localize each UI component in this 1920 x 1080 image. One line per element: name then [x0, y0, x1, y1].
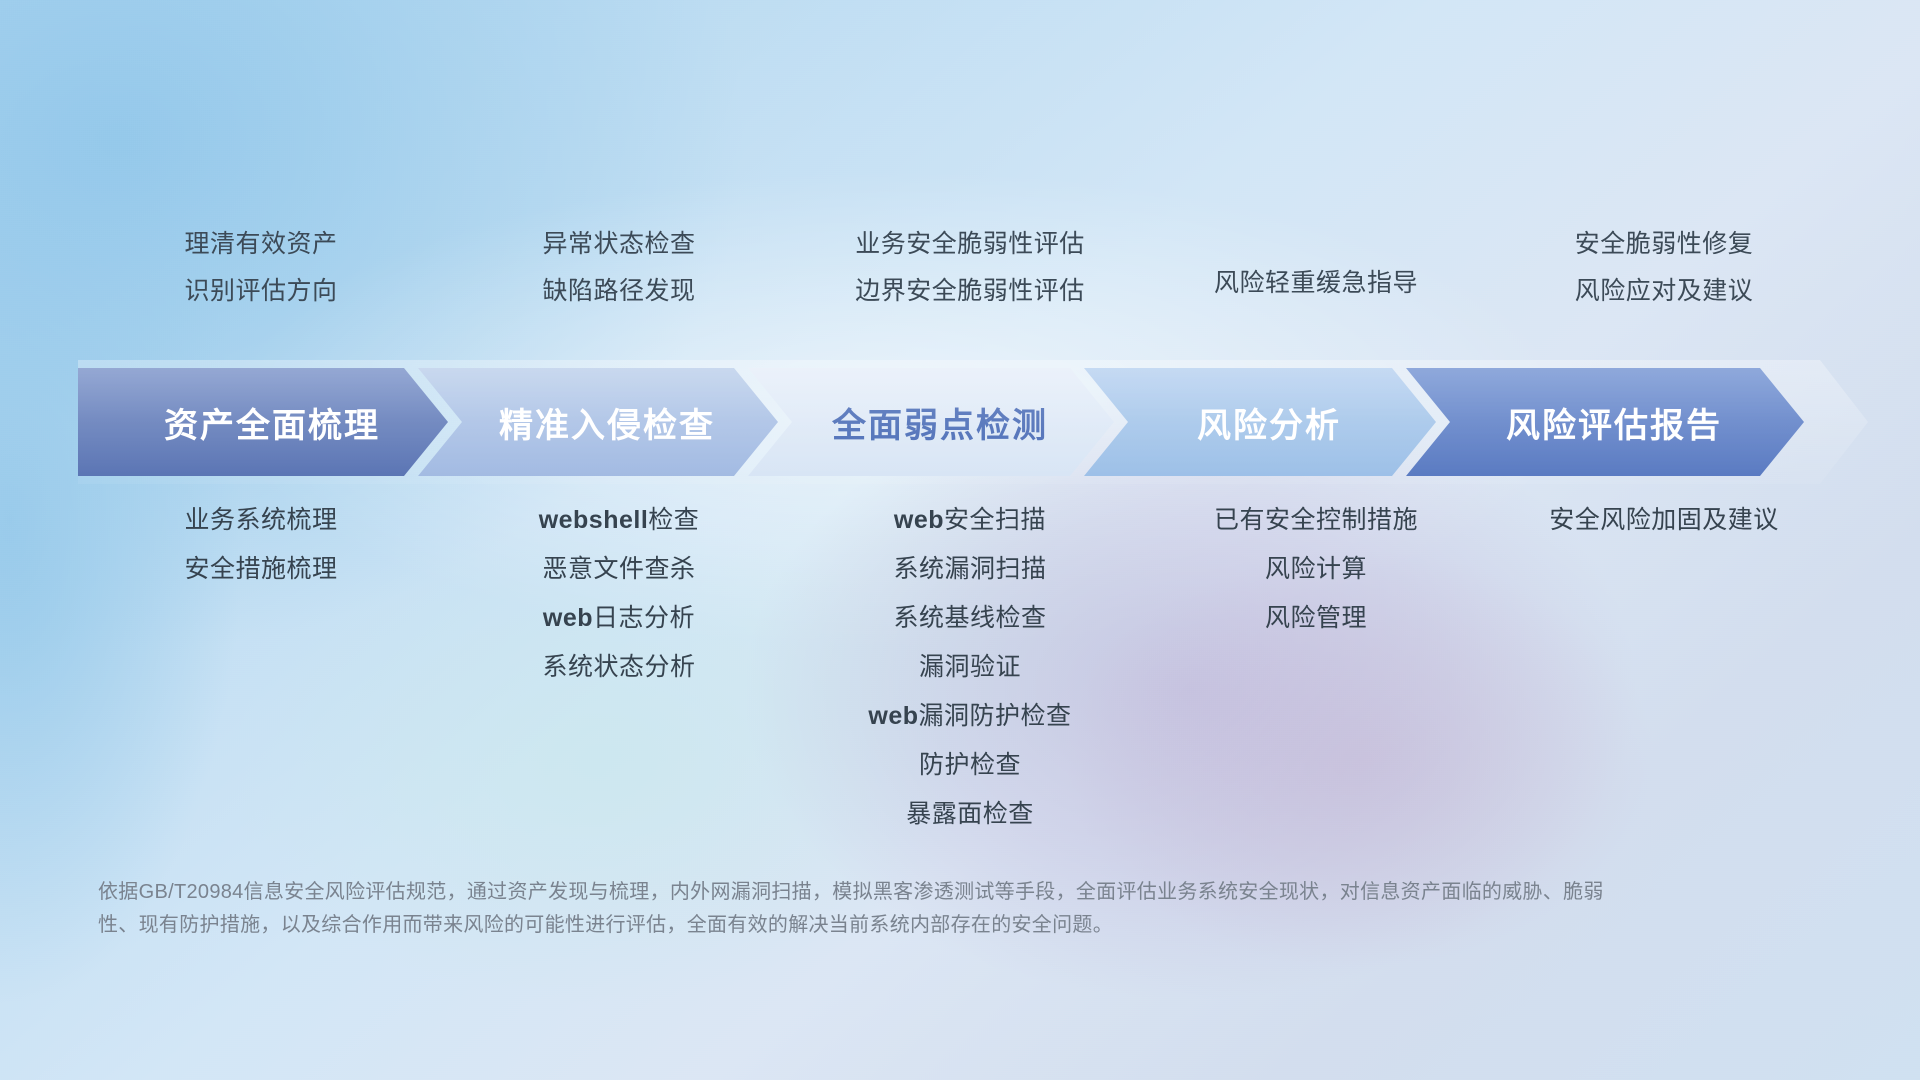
detail-item: 系统状态分析 — [542, 655, 695, 680]
pre-column-risk-analysis: 风险轻重缓急指导 — [1146, 232, 1486, 326]
detail-item: web漏洞防护检查 — [868, 704, 1071, 729]
detail-item-text: 检查 — [648, 506, 699, 534]
pre-item: 风险应对及建议 — [1575, 279, 1754, 304]
detail-item: 已有安全控制措施 — [1214, 508, 1418, 533]
detail-item-prefix: web — [868, 702, 918, 730]
detail-item: 系统漏洞扫描 — [893, 557, 1046, 582]
pre-column-risk-report: 安全脆弱性修复风险应对及建议 — [1486, 232, 1842, 326]
slide-content: 理清有效资产识别评估方向异常状态检查缺陷路径发现业务安全脆弱性评估边界安全脆弱性… — [0, 0, 1920, 1080]
detail-item-text: 日志分析 — [593, 604, 695, 632]
detail-item: 风险计算 — [1265, 557, 1367, 582]
detail-item-prefix: webshell — [539, 506, 649, 534]
pre-column-weakness-detection: 业务安全脆弱性评估边界安全脆弱性评估 — [794, 232, 1146, 326]
detail-column-asset-inventory: 业务系统梳理安全措施梳理 — [78, 508, 444, 851]
detail-item: 恶意文件查杀 — [542, 557, 695, 582]
detail-item: 业务系统梳理 — [184, 508, 337, 533]
detail-column-intrusion-check: webshell检查恶意文件查杀web日志分析系统状态分析 — [444, 508, 794, 851]
detail-item-prefix: web — [894, 506, 944, 534]
pre-item: 安全脆弱性修复 — [1575, 232, 1754, 257]
slide-background: 理清有效资产识别评估方向异常状态检查缺陷路径发现业务安全脆弱性评估边界安全脆弱性… — [0, 0, 1920, 1080]
detail-column-weakness-detection: web安全扫描系统漏洞扫描系统基线检查漏洞验证web漏洞防护检查防护检查暴露面检… — [794, 508, 1146, 851]
pre-item: 识别评估方向 — [184, 279, 337, 304]
pre-item: 风险轻重缓急指导 — [1214, 271, 1418, 296]
detail-item: web日志分析 — [543, 606, 695, 631]
detail-item-text: 漏洞防护检查 — [919, 702, 1072, 730]
chevron-band-glow — [78, 360, 1868, 484]
detail-item-text: 安全扫描 — [944, 506, 1046, 534]
detail-item: web安全扫描 — [894, 508, 1046, 533]
pre-item: 理清有效资产 — [184, 232, 337, 257]
detail-item: 漏洞验证 — [919, 655, 1021, 680]
detail-item: 防护检查 — [919, 753, 1021, 778]
pre-column-intrusion-check: 异常状态检查缺陷路径发现 — [444, 232, 794, 326]
pre-item: 异常状态检查 — [542, 232, 695, 257]
detail-item: 风险管理 — [1265, 606, 1367, 631]
detail-item: 安全风险加固及建议 — [1549, 508, 1779, 533]
pre-item: 缺陷路径发现 — [542, 279, 695, 304]
detail-column-risk-report: 安全风险加固及建议 — [1486, 508, 1842, 851]
detail-item-prefix: web — [543, 604, 593, 632]
stage-detail-columns: 业务系统梳理安全措施梳理webshell检查恶意文件查杀web日志分析系统状态分… — [78, 508, 1842, 851]
detail-column-risk-analysis: 已有安全控制措施风险计算风险管理 — [1146, 508, 1486, 851]
detail-item: 暴露面检查 — [906, 802, 1034, 827]
pre-item: 业务安全脆弱性评估 — [855, 232, 1085, 257]
footer-description: 依据GB/T20984信息安全风险评估规范，通过资产发现与梳理，内外网漏洞扫描，… — [98, 876, 1628, 942]
detail-item: 系统基线检查 — [893, 606, 1046, 631]
detail-item: 安全措施梳理 — [184, 557, 337, 582]
detail-item: webshell检查 — [539, 508, 700, 533]
pre-item: 边界安全脆弱性评估 — [855, 279, 1085, 304]
pre-stage-captions: 理清有效资产识别评估方向异常状态检查缺陷路径发现业务安全脆弱性评估边界安全脆弱性… — [78, 232, 1842, 326]
pre-column-asset-inventory: 理清有效资产识别评估方向 — [78, 232, 444, 326]
